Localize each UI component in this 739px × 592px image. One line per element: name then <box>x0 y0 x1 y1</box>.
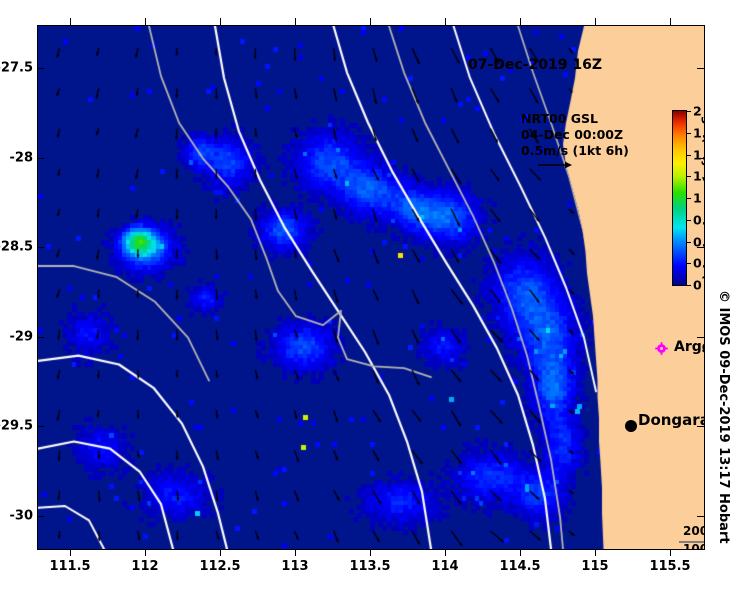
x-tick <box>295 549 296 556</box>
y-tick-right <box>697 158 704 159</box>
x-tick-label: 115 <box>581 559 608 574</box>
scalebar-1000m-label: 1000m <box>683 542 705 550</box>
y-tick <box>37 247 44 248</box>
scalebar-200m-label: 200m <box>683 524 705 539</box>
x-tick-top <box>220 18 221 25</box>
argo-float-marker[interactable] <box>655 342 668 355</box>
copyright-credit: © IMOS 09-Dec-2019 13:17 Hobart <box>716 290 731 544</box>
y-tick <box>37 68 44 69</box>
x-tick-top <box>595 18 596 25</box>
y-tick <box>37 516 44 517</box>
sst-age-raster <box>38 26 704 549</box>
bathymetry-scalebar-legend: 200m 1000m <box>683 524 705 550</box>
colorbar-tick <box>687 263 691 264</box>
y-tick-label: -29 <box>10 329 34 344</box>
x-tick-top <box>520 18 521 25</box>
colorbar-tick <box>687 242 691 243</box>
vector-legend: NRT00 GSL 04-Dec 00:00Z 0.5m/s (1kt 6h) <box>521 111 629 159</box>
y-tick-right <box>697 426 704 427</box>
timestamp-label: 07-Dec-2019 16Z <box>468 57 602 73</box>
x-tick <box>520 549 521 556</box>
x-tick-label: 112 <box>131 559 158 574</box>
colorbar-tick <box>687 176 691 177</box>
x-tick <box>670 549 671 556</box>
x-tick-label: 113.5 <box>349 559 390 574</box>
map-plot-area[interactable]: 07-Dec-2019 16Z NRT00 GSL 04-Dec 00:00Z … <box>37 25 705 550</box>
x-tick-top <box>70 18 71 25</box>
colorbar-tick <box>687 133 691 134</box>
y-tick <box>37 158 44 159</box>
x-tick <box>370 549 371 556</box>
vector-legend-scale: 0.5m/s (1kt 6h) <box>521 143 629 159</box>
city-dot-marker[interactable] <box>625 420 637 432</box>
x-tick-label: 112.5 <box>199 559 240 574</box>
vector-legend-source: NRT00 GSL <box>521 111 629 127</box>
x-tick-top <box>670 18 671 25</box>
colorbar-tick <box>687 111 691 112</box>
x-tick <box>595 549 596 556</box>
x-tick-top <box>145 18 146 25</box>
colorbar-tick <box>687 220 691 221</box>
y-tick-label: -28.5 <box>0 240 33 255</box>
colorbar-title: Age (days) of filled SST (wrt latest) <box>701 106 705 354</box>
vector-legend-date: 04-Dec 00:00Z <box>521 127 629 143</box>
right-arrow-icon <box>538 160 572 170</box>
x-tick-label: 113 <box>281 559 308 574</box>
x-tick-top <box>295 18 296 25</box>
x-tick-label: 111.5 <box>49 559 90 574</box>
y-tick-label: -27.5 <box>0 60 33 75</box>
x-tick-top <box>445 18 446 25</box>
y-axis: -27.5-28-28.5-29-29.5-30 <box>0 0 33 592</box>
y-tick-right <box>697 337 704 338</box>
sst-age-map-figure: -27.5-28-28.5-29-29.5-30 07-Dec-2019 16Z… <box>0 0 739 592</box>
x-tick-label: 114 <box>431 559 458 574</box>
x-tick-label: 114.5 <box>499 559 540 574</box>
y-tick <box>37 337 44 338</box>
x-tick <box>220 549 221 556</box>
x-tick <box>145 549 146 556</box>
y-tick-right <box>697 247 704 248</box>
x-tick <box>445 549 446 556</box>
x-tick-top <box>370 18 371 25</box>
y-tick <box>37 426 44 427</box>
dongara-label: Dongara <box>638 411 705 429</box>
y-tick-label: -29.5 <box>0 419 33 434</box>
colorbar-tick <box>687 155 691 156</box>
colorbar-tick <box>687 198 691 199</box>
y-tick-label: -30 <box>10 508 34 523</box>
x-tick-label: 115.5 <box>649 559 690 574</box>
colorbar-gradient <box>672 110 687 286</box>
y-tick-label: -28 <box>10 150 34 165</box>
x-tick <box>70 549 71 556</box>
colorbar-tick <box>687 285 691 286</box>
y-tick-right <box>697 68 704 69</box>
y-tick-right <box>697 516 704 517</box>
